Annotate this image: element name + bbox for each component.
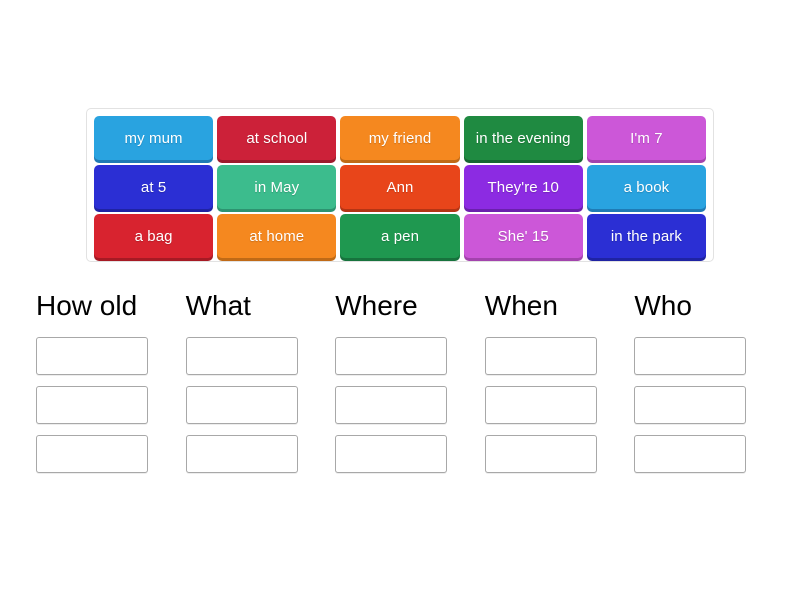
category-title: When [485,288,615,323]
drop-slot[interactable] [36,337,148,375]
draggable-tile[interactable]: in the park [587,214,706,258]
drop-slot[interactable] [634,386,746,424]
drop-slot[interactable] [186,337,298,375]
activity-page: my mum at school my friend in the evenin… [0,0,800,600]
tile-row: a bag at home a pen She' 15 in the park [92,212,708,260]
drop-slot[interactable] [485,386,597,424]
drop-slot[interactable] [186,435,298,473]
drop-slot[interactable] [485,435,597,473]
drop-slot[interactable] [634,435,746,473]
draggable-tile[interactable]: at 5 [94,165,213,209]
tile-row: at 5 in May Ann They're 10 a book [92,163,708,211]
drop-slot[interactable] [335,386,447,424]
draggable-tile[interactable]: I'm 7 [587,116,706,160]
draggable-tile[interactable]: in May [217,165,336,209]
category-title: What [186,288,316,323]
drop-slot[interactable] [634,337,746,375]
draggable-tile[interactable]: my mum [94,116,213,160]
drop-slot[interactable] [186,386,298,424]
drop-slot[interactable] [36,435,148,473]
category-title: How old [36,288,166,323]
draggable-tile[interactable]: a book [587,165,706,209]
draggable-tile[interactable]: at home [217,214,336,258]
category-column-how-old: How old [26,288,176,473]
drop-slot[interactable] [36,386,148,424]
category-title: Who [634,288,764,323]
draggable-tile[interactable]: She' 15 [464,214,583,258]
category-column-where: Where [325,288,475,473]
draggable-tile[interactable]: Ann [340,165,459,209]
draggable-tile[interactable]: a pen [340,214,459,258]
drop-slot[interactable] [335,337,447,375]
category-columns: How old What Where When Who [26,288,774,473]
draggable-tile[interactable]: at school [217,116,336,160]
category-column-what: What [176,288,326,473]
category-title: Where [335,288,465,323]
tile-tray: my mum at school my friend in the evenin… [86,108,714,262]
drop-slot[interactable] [335,435,447,473]
drop-slot[interactable] [485,337,597,375]
draggable-tile[interactable]: in the evening [464,116,583,160]
category-column-when: When [475,288,625,473]
draggable-tile[interactable]: my friend [340,116,459,160]
draggable-tile[interactable]: They're 10 [464,165,583,209]
category-column-who: Who [624,288,774,473]
draggable-tile[interactable]: a bag [94,214,213,258]
tile-row: my mum at school my friend in the evenin… [92,114,708,162]
